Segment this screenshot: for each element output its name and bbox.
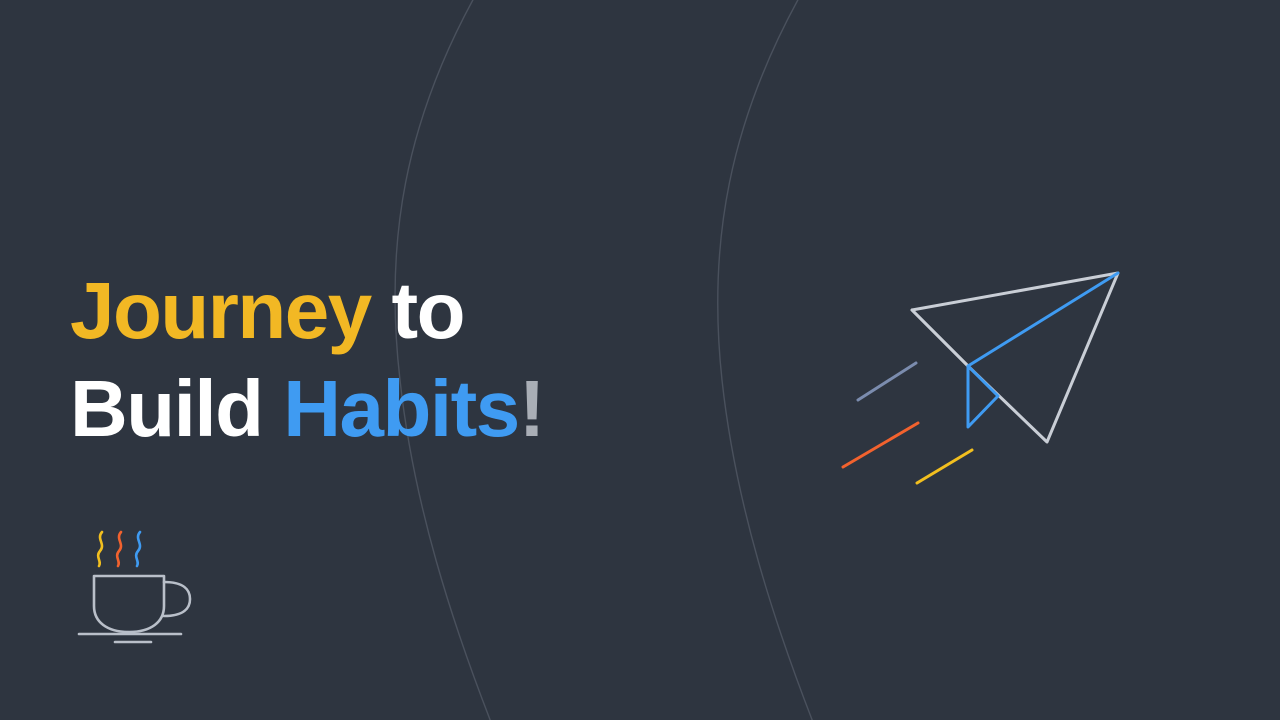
headline-line-1: Journey to [70, 262, 544, 360]
paper-plane-illustration [820, 250, 1160, 510]
cup-handle [164, 582, 190, 616]
background-arc-right [718, 0, 822, 720]
headline: Journey to Build Habits! [70, 262, 544, 458]
plane-fold-left [912, 310, 968, 366]
headline-word-build: Build [70, 364, 262, 453]
steam-wisp-orange [117, 532, 121, 566]
plane-tail-blue [968, 366, 998, 427]
headline-word-journey: Journey [70, 266, 371, 355]
headline-space-2 [262, 364, 283, 453]
plane-body-outline [912, 273, 1118, 442]
steam-wisp-blue [136, 532, 140, 566]
coffee-cup-illustration [66, 524, 206, 654]
slide-canvas: Journey to Build Habits! [0, 0, 1280, 720]
headline-word-habits: Habits [283, 364, 519, 453]
headline-word-to: to [391, 266, 464, 355]
motion-line-orange [843, 423, 918, 467]
motion-line-yellow [917, 450, 972, 483]
headline-line-2: Build Habits! [70, 360, 544, 458]
headline-space-1 [371, 266, 392, 355]
headline-exclamation-mark: ! [519, 364, 544, 453]
steam-wisp-yellow [98, 532, 102, 566]
motion-line-slate [858, 363, 916, 400]
cup-body [94, 576, 164, 632]
